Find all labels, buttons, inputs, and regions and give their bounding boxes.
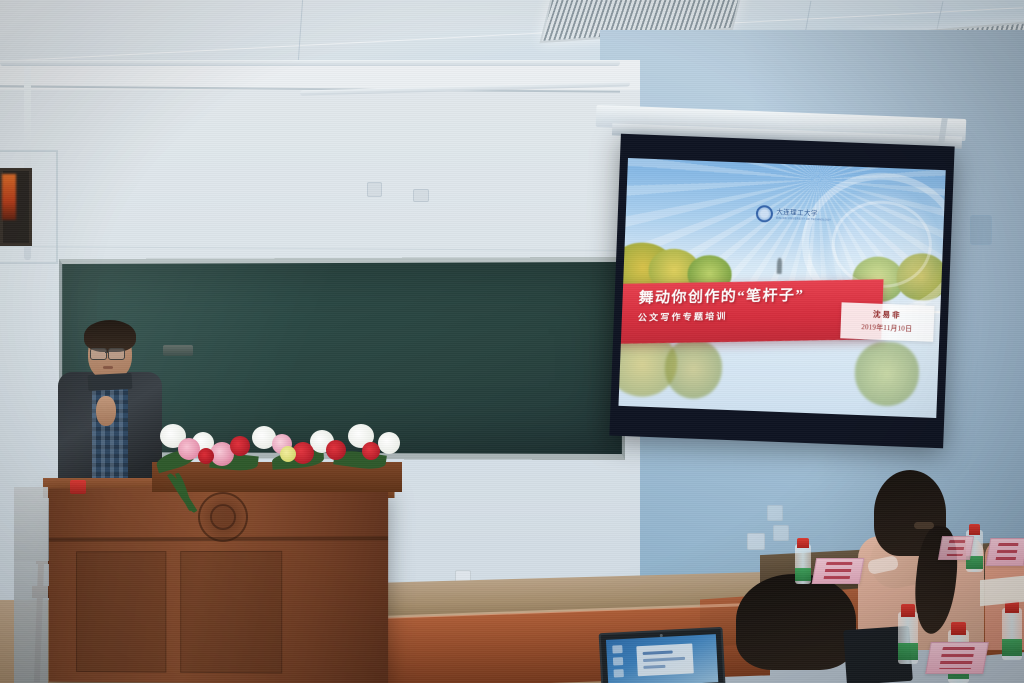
water-bottle[interactable] <box>795 538 811 584</box>
projection-screen[interactable]: 大连理工大学 DALIAN UNIVERSITY OF TECHNOLOGY 舞… <box>609 134 954 449</box>
flower-red <box>198 448 214 464</box>
flower-red <box>326 440 346 460</box>
slide-figure-silhouette <box>776 258 782 274</box>
name-card[interactable] <box>812 558 865 584</box>
exit-sign-icon <box>2 174 16 220</box>
wall-conduit-horizontal <box>0 60 620 66</box>
projected-slide: 大连理工大学 DALIAN UNIVERSITY OF TECHNOLOGY 舞… <box>618 158 945 418</box>
glasses-lens-right <box>108 348 125 360</box>
podium-crest-inner <box>210 504 236 530</box>
flower-arrangement <box>152 418 402 490</box>
slide-speaker-name: 沈易非 <box>843 308 932 322</box>
podium-panel-right <box>180 551 282 674</box>
slide-university-logo: 大连理工大学 DALIAN UNIVERSITY OF TECHNOLOGY <box>756 205 832 225</box>
attendee-hair <box>736 574 856 670</box>
glasses-lens-left <box>90 348 107 360</box>
flower-yellow <box>280 446 296 462</box>
paper-sheet[interactable] <box>980 576 1024 607</box>
slide-title: 舞动你创作的“笔杆子” <box>638 282 862 307</box>
glasses-bridge <box>105 352 109 353</box>
light-switch-plate-2[interactable] <box>413 189 429 202</box>
light-switch-plate-1[interactable] <box>367 182 382 197</box>
hair-tie <box>914 522 934 529</box>
name-card[interactable] <box>925 642 989 674</box>
flower-white <box>378 432 400 454</box>
presenter-hand <box>96 396 116 426</box>
wall-speaker-icon <box>970 215 992 245</box>
slide-speaker-card: 沈易非 2019年11月10日 <box>840 303 934 343</box>
wall-socket-far-right[interactable] <box>773 525 789 541</box>
red-cup[interactable] <box>70 480 86 494</box>
flower-pink <box>178 438 200 460</box>
presenter-collar <box>88 373 133 391</box>
laptop[interactable] <box>599 627 726 683</box>
university-crest-icon <box>756 205 774 223</box>
slide-watermark-seal-inner <box>830 198 933 289</box>
flower-red <box>230 436 250 456</box>
slide-title-block: 舞动你创作的“笔杆子” 公文写作专题培训 <box>638 282 862 323</box>
wall-socket-mid[interactable] <box>767 505 783 521</box>
lecture-hall-photo: 大连理工大学 DALIAN UNIVERSITY OF TECHNOLOGY 舞… <box>0 0 1024 683</box>
name-card[interactable] <box>986 538 1024 566</box>
laptop-screen <box>606 634 718 683</box>
water-bottle[interactable] <box>898 604 918 664</box>
name-card[interactable] <box>938 536 974 560</box>
podium-side-panel <box>14 487 48 683</box>
wall-socket-right[interactable] <box>747 533 765 550</box>
water-bottle[interactable] <box>1002 600 1022 660</box>
podium-crest-icon <box>198 492 248 542</box>
slide-date: 2019年11月10日 <box>842 322 931 335</box>
flower-red <box>362 442 380 460</box>
attendee-man-laptop <box>728 574 863 683</box>
laptop-webcam-icon <box>659 634 662 637</box>
presenter-mouth <box>103 366 113 369</box>
podium-panel-left <box>76 551 166 672</box>
